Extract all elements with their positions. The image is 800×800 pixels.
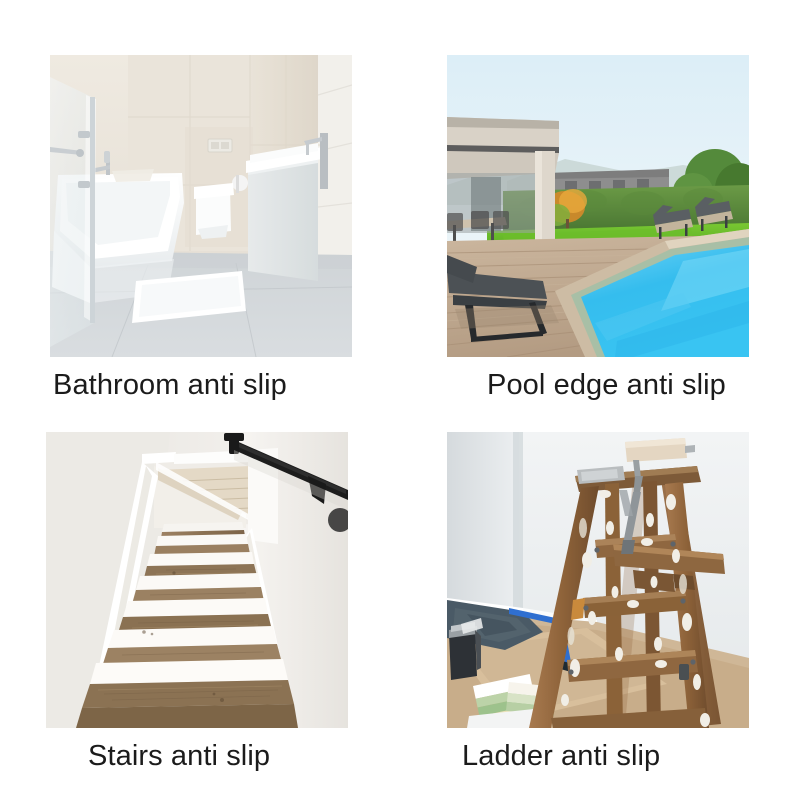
- caption-ladder: Ladder anti slip: [462, 742, 660, 771]
- product-feature-grid: Bathroom anti slip: [0, 0, 800, 800]
- caption-pool-edge: Pool edge anti slip: [487, 371, 726, 400]
- tile-ladder[interactable]: [447, 432, 749, 728]
- bathroom-photo: [50, 55, 352, 357]
- ladder-photo: [447, 432, 749, 728]
- application-tiles: Bathroom anti slip: [0, 0, 800, 800]
- tile-bathroom[interactable]: [50, 55, 352, 357]
- caption-bathroom: Bathroom anti slip: [53, 371, 287, 400]
- tile-pool-edge[interactable]: [447, 55, 749, 357]
- stairs-photo: [46, 432, 348, 728]
- pool-edge-photo: [447, 55, 749, 357]
- caption-stairs: Stairs anti slip: [88, 742, 270, 771]
- tile-stairs[interactable]: [46, 432, 348, 728]
